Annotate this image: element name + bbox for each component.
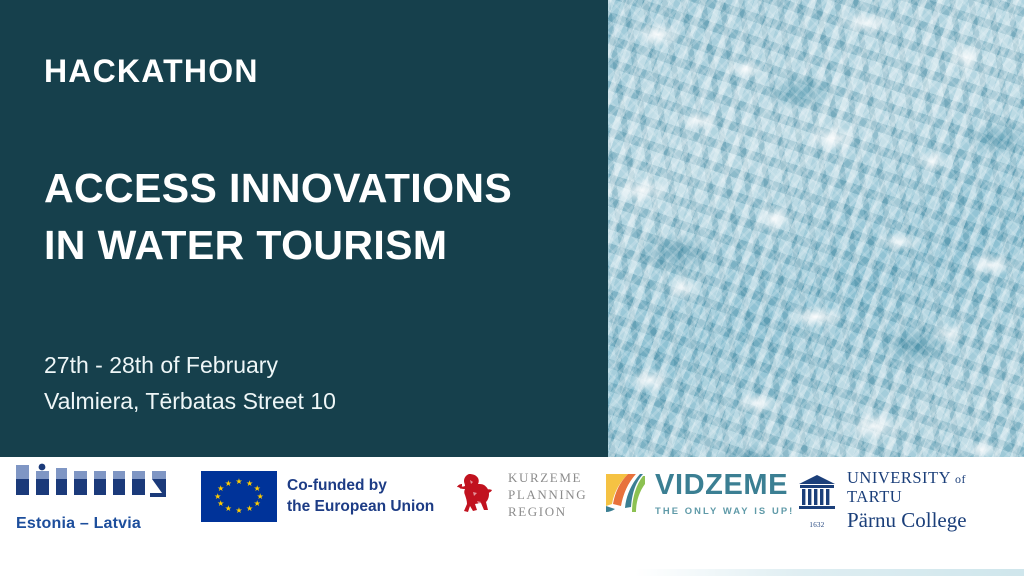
headline-line-2: IN WATER TOURISM: [44, 217, 584, 274]
vidzeme-mark-icon: [604, 472, 646, 516]
logo-interreg: Estonia – Latvia: [14, 463, 182, 533]
logo-vidzeme: VIDZEME THE ONLY WAY IS UP!: [604, 471, 794, 516]
kurzeme-line-3: REGION: [508, 503, 587, 520]
tartu-year: 1632: [797, 521, 837, 529]
poster-canvas: HACKATHON ACCESS INNOVATIONS IN WATER TO…: [0, 0, 1024, 576]
logo-kurzeme-planning-region: KURZEME PLANNING REGION: [456, 469, 587, 520]
tartu-of-word: of: [955, 472, 966, 486]
event-kicker: HACKATHON: [44, 55, 259, 87]
classical-building-icon: [797, 473, 837, 515]
vidzeme-tagline: THE ONLY WAY IS UP!: [655, 505, 794, 516]
eu-funding-text: Co-funded by the European Union: [287, 476, 434, 516]
tartu-emblem-block: 1632: [797, 473, 837, 529]
tartu-line-1: UNIVERSITY of TARTU: [847, 469, 1024, 507]
eu-text-line-1: Co-funded by: [287, 476, 434, 496]
vidzeme-text-block: VIDZEME THE ONLY WAY IS UP!: [655, 471, 794, 516]
event-details: 27th - 28th of February Valmiera, Tērbat…: [44, 348, 584, 419]
interreg-wordmark: [14, 463, 182, 497]
logo-european-union: ★ ★ ★ ★ ★ ★ ★ ★ ★ ★ ★ ★ Co-funded by the…: [201, 471, 434, 522]
tartu-line-2: Pärnu College: [847, 508, 1024, 533]
kurzeme-line-1: KURZEME: [508, 469, 587, 486]
kurzeme-wordmark: KURZEME PLANNING REGION: [508, 469, 587, 520]
tartu-text-block: UNIVERSITY of TARTU Pärnu College: [847, 469, 1024, 533]
interreg-programme: Estonia – Latvia: [16, 515, 141, 533]
tartu-tartu-word: TARTU: [847, 487, 902, 506]
event-date: 27th - 28th of February: [44, 348, 584, 384]
bottom-water-strip: [0, 569, 1024, 576]
vidzeme-wordmark: VIDZEME: [655, 471, 794, 500]
page-title: ACCESS INNOVATIONS IN WATER TOURISM: [44, 160, 584, 273]
eu-text-line-2: the European Union: [287, 497, 434, 517]
event-location: Valmiera, Tērbatas Street 10: [44, 384, 584, 420]
eu-flag-icon: ★ ★ ★ ★ ★ ★ ★ ★ ★ ★ ★ ★: [201, 471, 277, 522]
tartu-university-word: UNIVERSITY: [847, 468, 950, 487]
logo-bar: Estonia – Latvia ★ ★ ★ ★ ★ ★ ★ ★ ★ ★ ★ ★…: [0, 457, 1024, 569]
logo-university-of-tartu: 1632 UNIVERSITY of TARTU Pärnu College: [797, 469, 1024, 533]
kurzeme-line-2: PLANNING: [508, 486, 587, 503]
headline-line-1: ACCESS INNOVATIONS: [44, 160, 584, 217]
red-lion-icon: [456, 470, 500, 520]
